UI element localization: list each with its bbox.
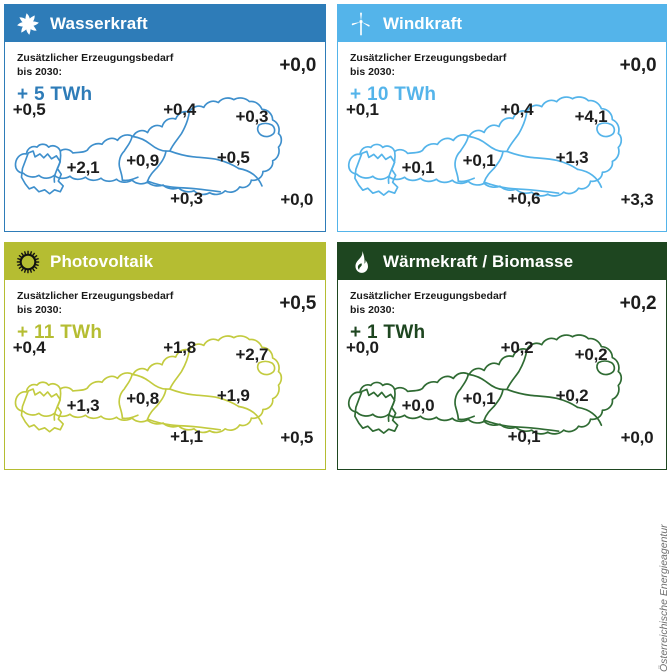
panel-title: Wasserkraft	[50, 14, 148, 34]
region-value-oberoesterreich: +0,4	[501, 100, 534, 120]
region-value-salzburg: +0,1	[463, 389, 496, 409]
region-value-niederoesterreich: +1,9	[217, 386, 250, 406]
region-value-burgenland: +0,0	[621, 428, 654, 448]
region-value-steiermark: +2,7	[235, 345, 268, 365]
caption-label: Zusätzlicher Erzeugungsbedarf bis 2030:	[350, 52, 506, 80]
region-value-oberoesterreich: +1,8	[163, 338, 196, 358]
region-value-niederoesterreich: +0,5	[217, 148, 250, 168]
wind-turbine-icon	[348, 11, 374, 37]
region-value-vorarlberg: +0,1	[346, 100, 379, 120]
region-value-salzburg: +0,8	[126, 389, 159, 409]
region-value-vorarlberg: +0,0	[346, 338, 379, 358]
panel-waermekraft: Wärmekraft / Biomasse Zusätzlicher Erzeu…	[337, 242, 667, 470]
flame-icon	[348, 249, 374, 275]
region-value-steiermark: +0,3	[235, 107, 268, 127]
region-value-kaernten: +0,3	[170, 189, 203, 209]
credit-attribution: Österreichische Energieagentur	[658, 472, 670, 672]
panel-photovoltaik: Photovoltaik Zusätzlicher Erzeugungsbeda…	[4, 242, 326, 470]
infographic-grid: Wasserkraft Zusätzlicher Erzeugungsbedar…	[0, 0, 671, 480]
region-value-steiermark: +0,2	[575, 345, 608, 365]
sun-icon	[15, 249, 41, 275]
region-value-tirol: +1,3	[67, 396, 100, 416]
panel-title: Windkraft	[383, 14, 462, 34]
region-value-steiermark: +4,1	[575, 107, 608, 127]
panel-body-photovoltaik: Zusätzlicher Erzeugungsbedarf bis 2030:+…	[5, 280, 325, 469]
panel-header-windkraft: Windkraft	[338, 5, 666, 42]
caption-label: Zusätzlicher Erzeugungsbedarf bis 2030:	[350, 290, 506, 318]
region-value-wien: +0,5	[279, 293, 316, 315]
region-value-burgenland: +0,0	[280, 190, 313, 210]
region-value-vorarlberg: +0,5	[13, 100, 46, 120]
region-value-wien: +0,0	[620, 55, 657, 77]
region-value-kaernten: +0,1	[508, 427, 541, 447]
region-value-tirol: +2,1	[67, 158, 100, 178]
region-value-kaernten: +1,1	[170, 427, 203, 447]
region-value-kaernten: +0,6	[508, 189, 541, 209]
panel-title: Wärmekraft / Biomasse	[383, 252, 573, 272]
region-value-burgenland: +0,5	[280, 428, 313, 448]
region-value-salzburg: +0,9	[126, 151, 159, 171]
region-value-wien: +0,0	[279, 55, 316, 77]
panel-title: Photovoltaik	[50, 252, 153, 272]
panel-header-wasserkraft: Wasserkraft	[5, 5, 325, 42]
panel-body-windkraft: Zusätzlicher Erzeugungsbedarf bis 2030:+…	[338, 42, 666, 231]
panel-body-waermekraft: Zusätzlicher Erzeugungsbedarf bis 2030:+…	[338, 280, 666, 469]
region-value-tirol: +0,0	[402, 396, 435, 416]
panel-wasserkraft: Wasserkraft Zusätzlicher Erzeugungsbedar…	[4, 4, 326, 232]
panel-windkraft: Windkraft Zusätzlicher Erzeugungsbedarf …	[337, 4, 667, 232]
region-value-wien: +0,2	[620, 293, 657, 315]
panel-header-waermekraft: Wärmekraft / Biomasse	[338, 243, 666, 280]
region-value-salzburg: +0,1	[463, 151, 496, 171]
panel-header-photovoltaik: Photovoltaik	[5, 243, 325, 280]
region-value-oberoesterreich: +0,2	[501, 338, 534, 358]
region-value-tirol: +0,1	[402, 158, 435, 178]
region-value-niederoesterreich: +0,2	[556, 386, 589, 406]
panel-body-wasserkraft: Zusätzlicher Erzeugungsbedarf bis 2030:+…	[5, 42, 325, 231]
water-turbine-icon	[15, 11, 41, 37]
region-value-vorarlberg: +0,4	[13, 338, 46, 358]
region-value-oberoesterreich: +0,4	[163, 100, 196, 120]
caption-label: Zusätzlicher Erzeugungsbedarf bis 2030:	[17, 290, 173, 318]
caption-label: Zusätzlicher Erzeugungsbedarf bis 2030:	[17, 52, 173, 80]
region-value-burgenland: +3,3	[621, 190, 654, 210]
region-value-niederoesterreich: +1,3	[556, 148, 589, 168]
